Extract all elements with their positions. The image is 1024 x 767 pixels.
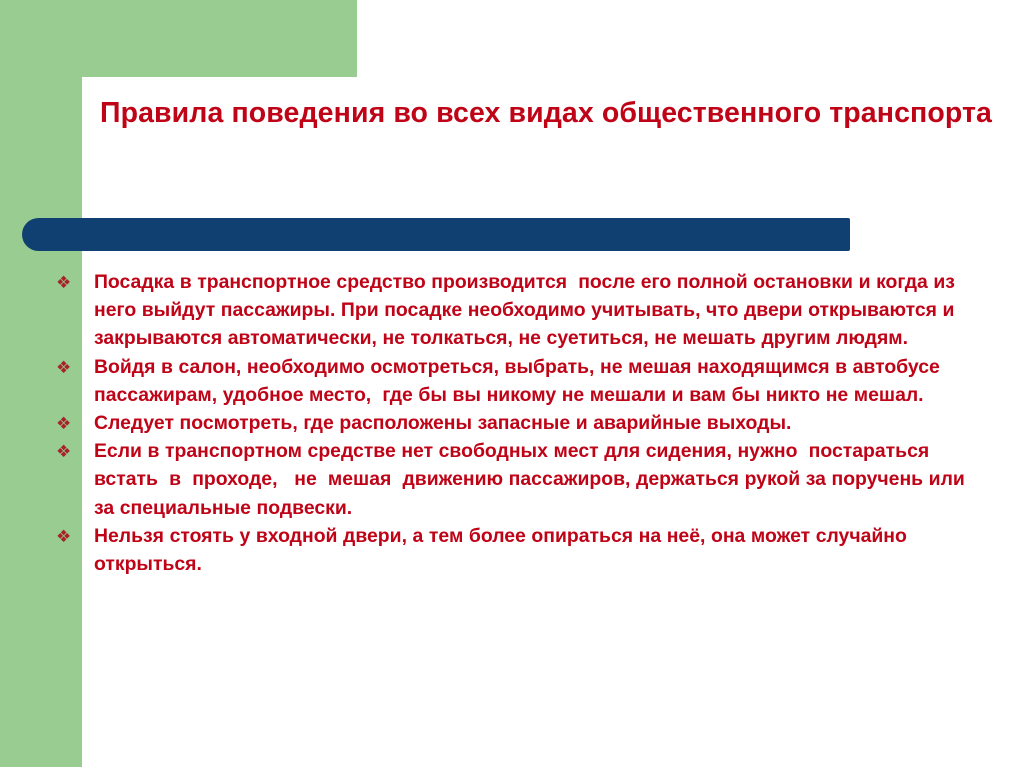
diamond-bullet-icon: ❖ — [56, 354, 78, 382]
rules-bullet-list: ❖ Посадка в транспортное средство произв… — [56, 268, 986, 578]
list-item-text: Если в транспортном средстве нет свободн… — [94, 437, 986, 522]
list-item-text: Посадка в транспортное средство производ… — [94, 268, 986, 353]
diamond-bullet-icon: ❖ — [56, 269, 78, 297]
list-item: ❖ Следует посмотреть, где расположены за… — [56, 409, 986, 437]
diamond-bullet-icon: ❖ — [56, 410, 78, 438]
page-title: Правила поведения во всех видах обществе… — [96, 95, 996, 131]
list-item: ❖ Посадка в транспортное средство произв… — [56, 268, 986, 353]
list-item: ❖ Нельзя стоять у входной двери, а тем б… — [56, 522, 986, 578]
list-item-text: Войдя в салон, необходимо осмотреться, в… — [94, 353, 986, 409]
diamond-bullet-icon: ❖ — [56, 523, 78, 551]
title-area: Правила поведения во всех видах обществе… — [96, 95, 996, 131]
green-header-block — [0, 0, 357, 77]
list-item: ❖ Если в транспортном средстве нет свобо… — [56, 437, 986, 522]
list-item-text: Нельзя стоять у входной двери, а тем бол… — [94, 522, 986, 578]
list-item-text: Следует посмотреть, где расположены запа… — [94, 409, 986, 437]
diamond-bullet-icon: ❖ — [56, 438, 78, 466]
blue-divider-bar — [22, 218, 850, 251]
presentation-slide: Правила поведения во всех видах обществе… — [0, 0, 1024, 767]
list-item: ❖ Войдя в салон, необходимо осмотреться,… — [56, 353, 986, 409]
